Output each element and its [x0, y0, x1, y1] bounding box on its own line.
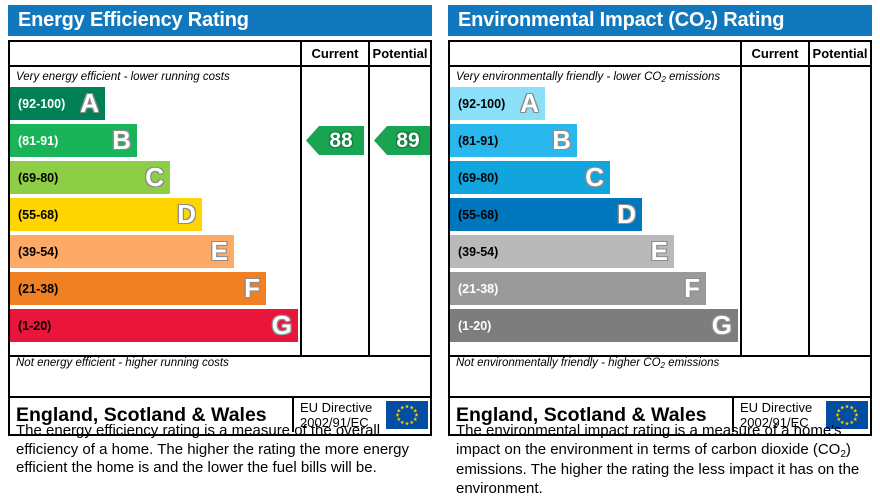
environmental-impact-title: Environmental Impact (CO2) Rating	[448, 5, 872, 36]
energy-efficiency-table: Current Potential Very energy efficient …	[8, 40, 432, 398]
energy-directive-line1: EU Directive	[300, 400, 372, 415]
band-range-d: (55-68)	[458, 198, 498, 231]
band-range-b: (81-91)	[458, 124, 498, 157]
energy-col-header-potential: Potential	[370, 42, 430, 65]
band-range-a: (92-100)	[18, 87, 65, 120]
environmental-impact-panel: Environmental Impact (CO2) Rating Curren…	[440, 0, 880, 493]
env-caption-bottom-main: Not environmentally friendly - higher CO	[456, 357, 661, 369]
band-letter-a: A	[80, 87, 99, 120]
band-bar-g: (1-20)G	[450, 309, 738, 342]
environmental-caption-bottom: Not environmentally friendly - higher CO…	[456, 357, 719, 369]
band-bar-d: (55-68)D	[450, 198, 642, 231]
band-letter-d: D	[177, 198, 196, 231]
band-range-c: (69-80)	[458, 161, 498, 194]
band-letter-b: B	[112, 124, 131, 157]
band-range-g: (1-20)	[458, 309, 491, 342]
band-bar-e: (39-54)E	[450, 235, 674, 268]
band-letter-d: D	[617, 198, 636, 231]
current-rating-arrow: 88	[306, 126, 364, 155]
env-caption-top-main: Very environmentally friendly - lower CO	[456, 71, 661, 83]
band-range-b: (81-91)	[18, 124, 58, 157]
band-letter-e: E	[211, 235, 228, 268]
energy-band-list: (92-100)A(81-91)B(69-80)C(55-68)D(39-54)…	[10, 87, 300, 355]
energy-column-divider-1	[300, 42, 302, 357]
band-bar-f: (21-38)F	[10, 272, 266, 305]
band-range-g: (1-20)	[18, 309, 51, 342]
environmental-caption-top: Very environmentally friendly - lower CO…	[456, 71, 720, 83]
band-range-f: (21-38)	[458, 272, 498, 305]
energy-efficiency-title: Energy Efficiency Rating	[8, 5, 432, 36]
band-bar-a: (92-100)A	[10, 87, 105, 120]
energy-efficiency-panel: Energy Efficiency Rating Current Potenti…	[0, 0, 440, 493]
band-letter-b: B	[552, 124, 571, 157]
energy-col-header-current: Current	[302, 42, 368, 65]
band-letter-f: F	[244, 272, 260, 305]
band-bar-g: (1-20)G	[10, 309, 298, 342]
band-letter-g: G	[272, 309, 292, 342]
env-caption-top-end: emissions	[666, 71, 720, 83]
band-range-d: (55-68)	[18, 198, 58, 231]
env-desc-sub: 2	[840, 449, 846, 460]
band-range-e: (39-54)	[458, 235, 498, 268]
band-letter-e: E	[651, 235, 668, 268]
energy-caption-bottom: Not energy efficient - higher running co…	[16, 357, 229, 369]
band-bar-c: (69-80)C	[10, 161, 170, 194]
band-letter-a: A	[520, 87, 539, 120]
band-bar-e: (39-54)E	[10, 235, 234, 268]
environmental-col-header-potential: Potential	[810, 42, 870, 65]
band-bar-d: (55-68)D	[10, 198, 202, 231]
band-letter-c: C	[145, 161, 164, 194]
environmental-description: The environmental impact rating is a mea…	[456, 422, 866, 498]
band-range-a: (92-100)	[458, 87, 505, 120]
band-range-e: (39-54)	[18, 235, 58, 268]
energy-column-divider-2	[368, 42, 370, 357]
band-letter-g: G	[712, 309, 732, 342]
band-letter-c: C	[585, 161, 604, 194]
epc-chart-root: Energy Efficiency Rating Current Potenti…	[0, 0, 880, 493]
environmental-band-list: (92-100)A(81-91)B(69-80)C(55-68)D(39-54)…	[450, 87, 740, 355]
band-range-c: (69-80)	[18, 161, 58, 194]
environmental-col-header-current: Current	[742, 42, 808, 65]
env-desc-part1: The environmental impact rating is a mea…	[456, 422, 842, 458]
environmental-title-end: ) Rating	[711, 9, 784, 31]
environmental-impact-table: Current Potential Very environmentally f…	[448, 40, 872, 398]
band-bar-c: (69-80)C	[450, 161, 610, 194]
band-bar-f: (21-38)F	[450, 272, 706, 305]
band-bar-b: (81-91)B	[450, 124, 577, 157]
band-bar-a: (92-100)A	[450, 87, 545, 120]
env-caption-bottom-end: emissions	[665, 357, 719, 369]
band-range-f: (21-38)	[18, 272, 58, 305]
environmental-directive-line1: EU Directive	[740, 400, 812, 415]
environmental-title-sub: 2	[704, 17, 711, 32]
band-letter-f: F	[684, 272, 700, 305]
env-caption-top-sub: 2	[661, 75, 665, 84]
environmental-title-main: Environmental Impact (CO	[458, 9, 704, 31]
env-caption-bottom-sub: 2	[661, 361, 665, 370]
band-bar-b: (81-91)B	[10, 124, 137, 157]
environmental-column-divider-1	[740, 42, 742, 357]
energy-description: The energy efficiency rating is a measur…	[16, 422, 426, 478]
potential-rating-arrow: 89	[374, 126, 430, 155]
energy-caption-top: Very energy efficient - lower running co…	[16, 71, 230, 83]
energy-efficiency-title-text: Energy Efficiency Rating	[18, 9, 249, 31]
environmental-column-divider-2	[808, 42, 810, 357]
